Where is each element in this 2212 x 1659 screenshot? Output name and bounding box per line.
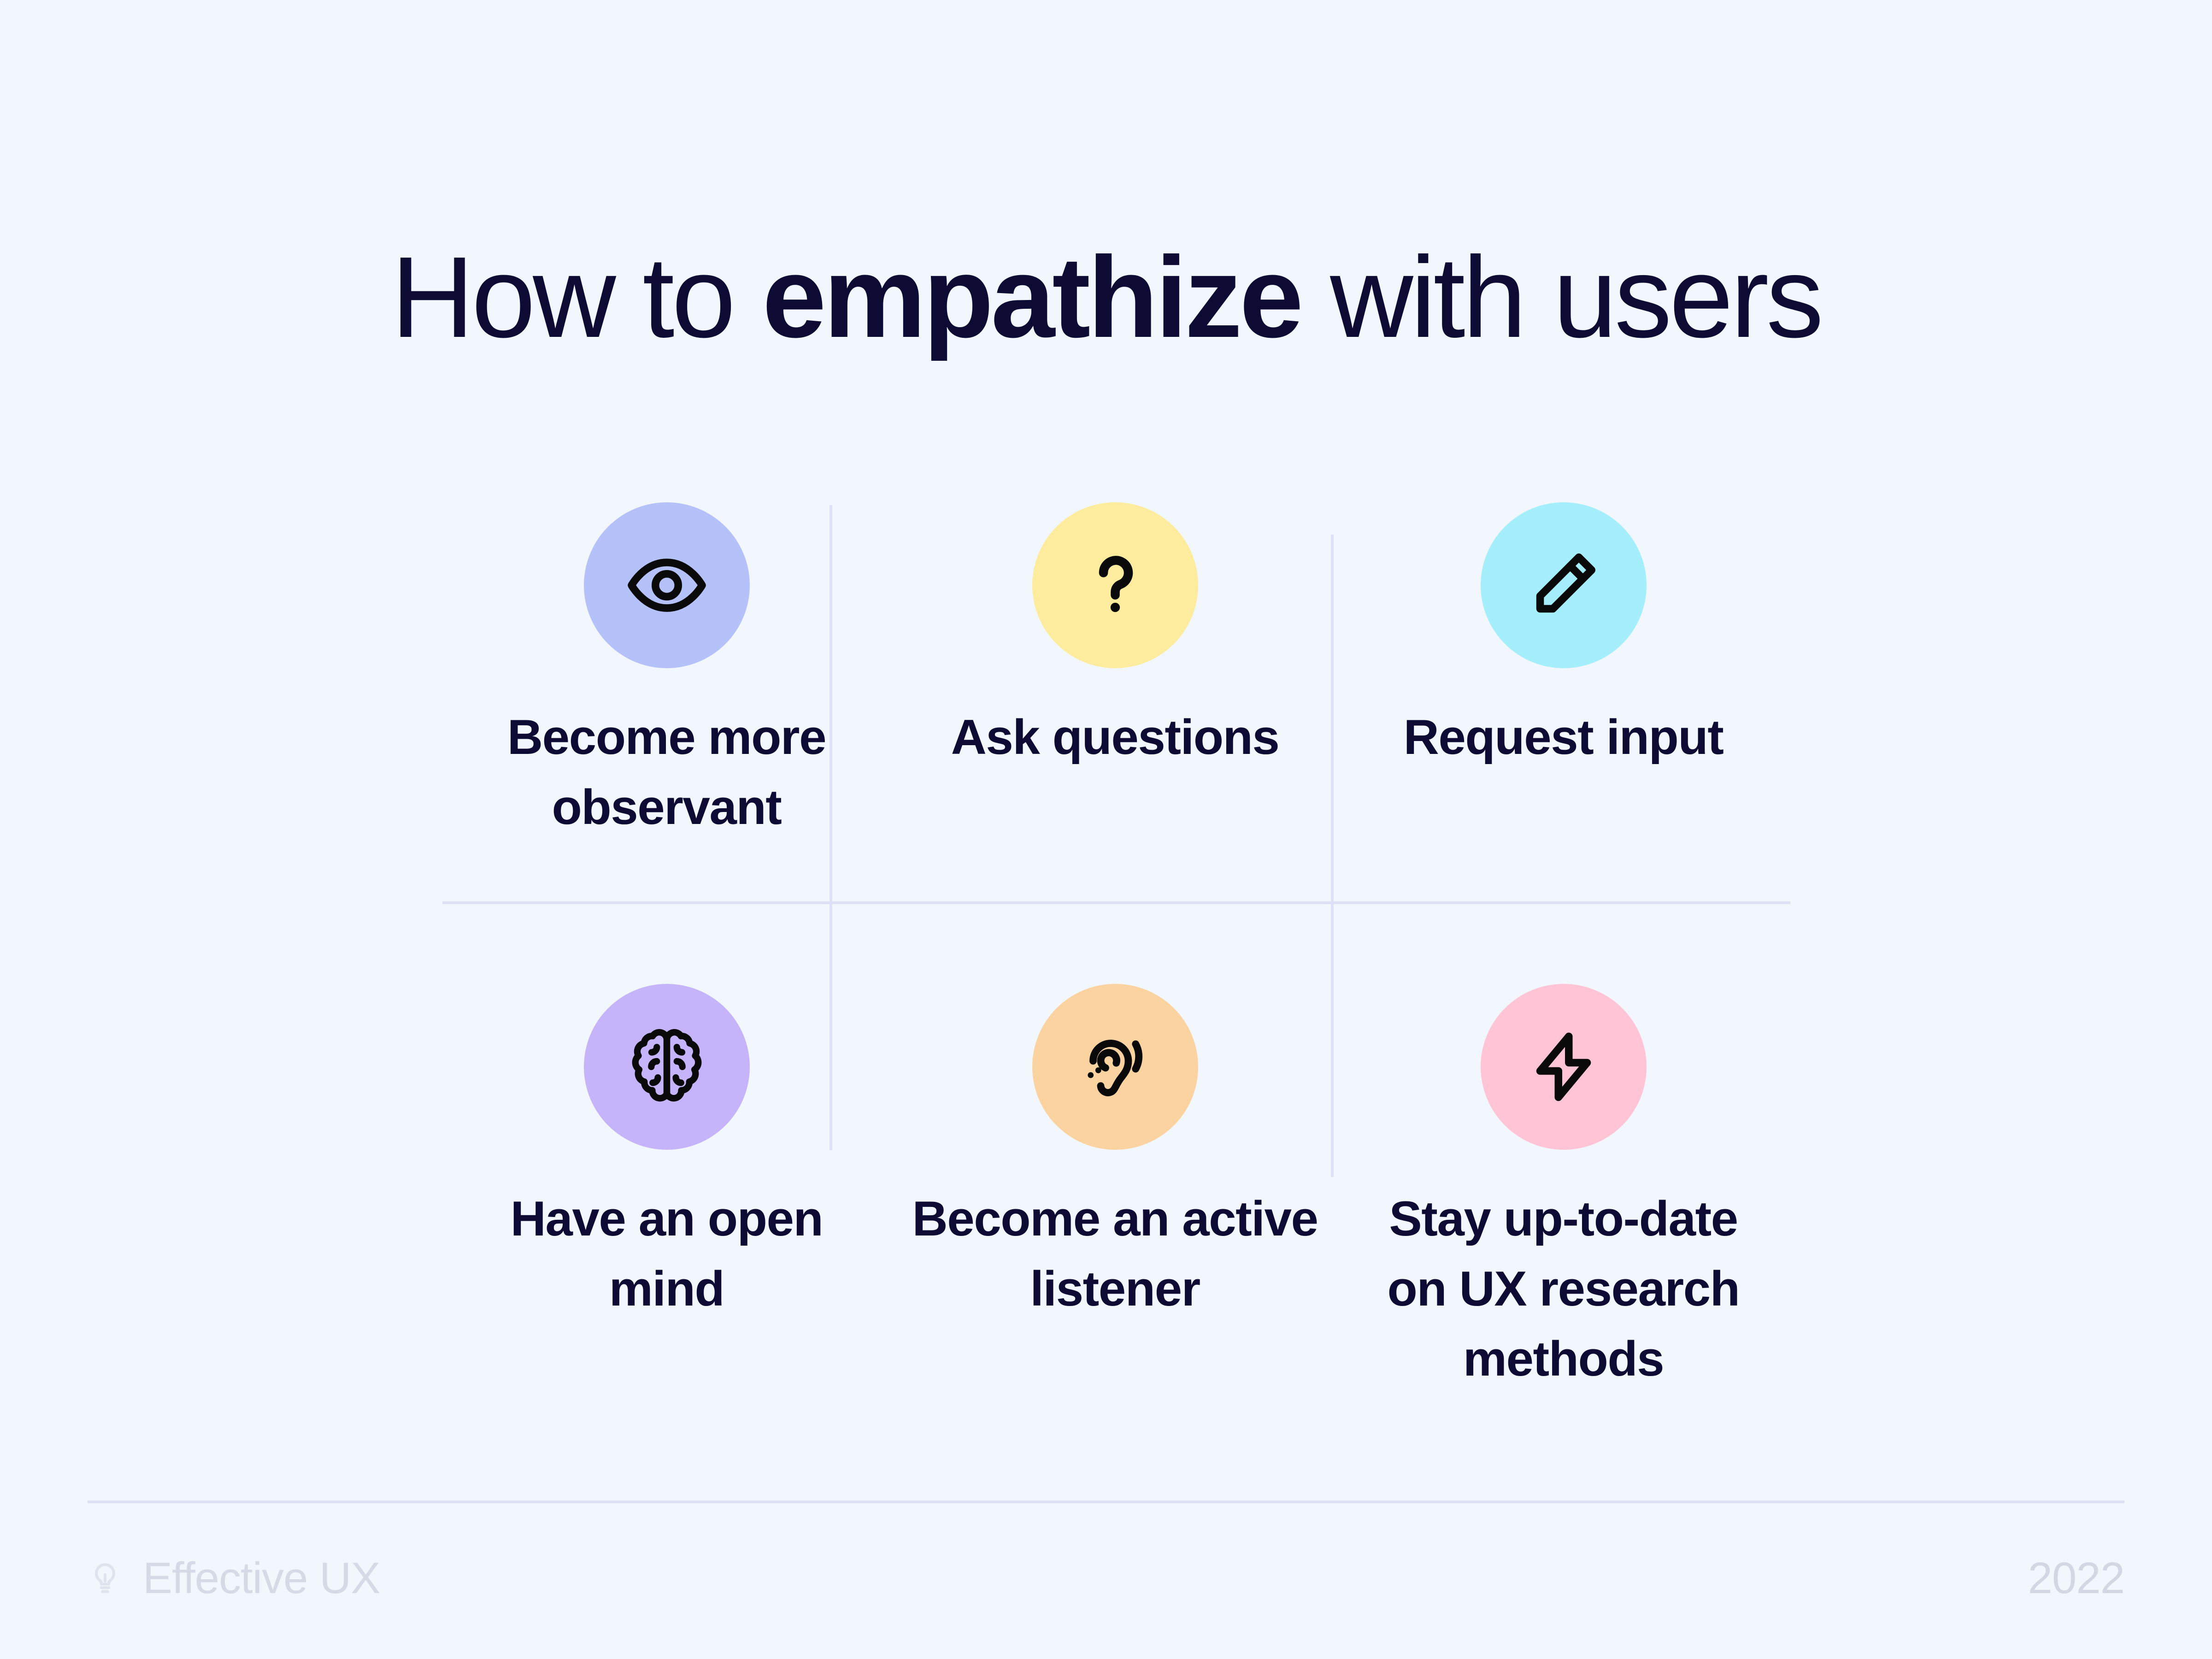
eye-icon-badge (584, 502, 750, 668)
tip-label: Ask questions (951, 702, 1279, 772)
tip-label: Request input (1404, 702, 1724, 772)
tip-card-request-input[interactable]: Request input (1339, 502, 1788, 842)
tip-label: Stay up-to-date on UX research methods (1361, 1184, 1766, 1394)
tip-card-become-an-active-listener[interactable]: Become an active listener (891, 984, 1339, 1394)
footer-divider (88, 1500, 2124, 1503)
tip-label: Have an open mind (464, 1184, 870, 1324)
tip-card-ask-questions[interactable]: Ask questions (891, 502, 1339, 842)
footer-brand-label: Effective UX (143, 1553, 380, 1604)
title-suffix: with users (1301, 233, 1821, 361)
tip-card-have-an-open-mind[interactable]: Have an open mind (442, 984, 891, 1394)
tips-grid: Become more observant Ask questions (442, 502, 1788, 1184)
question-mark-icon (1074, 544, 1157, 627)
pencil-icon-badge (1481, 502, 1647, 668)
tips-row-2: Have an open mind Become an active l (442, 984, 1788, 1394)
lightning-bolt-icon (1522, 1025, 1605, 1108)
lightning-bolt-icon-badge (1481, 984, 1647, 1150)
title-prefix: How to (391, 233, 763, 361)
lightbulb-icon (88, 1561, 123, 1596)
tip-label: Become an active listener (912, 1184, 1318, 1324)
tip-card-become-more-observant[interactable]: Become more observant (442, 502, 891, 842)
footer-brand: Effective UX (88, 1553, 380, 1604)
footer: Effective UX 2022 (88, 1553, 2124, 1604)
title-heading: How to empathize with users (0, 235, 2212, 359)
ear-listening-icon-badge (1032, 984, 1198, 1150)
footer-year: 2022 (2028, 1553, 2124, 1604)
brain-icon (625, 1025, 708, 1108)
question-mark-icon-badge (1032, 502, 1198, 668)
tips-row-1: Become more observant Ask questions (442, 502, 1788, 842)
eye-icon (625, 544, 708, 627)
tip-card-stay-up-to-date[interactable]: Stay up-to-date on UX research methods (1339, 984, 1788, 1394)
pencil-icon (1522, 544, 1605, 627)
ear-listening-icon (1074, 1025, 1157, 1108)
slide-root: How to empathize with users Become more … (0, 0, 2212, 1659)
tip-label: Become more observant (464, 702, 870, 842)
title-emphasis: empathize (762, 233, 1301, 361)
page-title: How to empathize with users (0, 235, 2212, 359)
brain-icon-badge (584, 984, 750, 1150)
